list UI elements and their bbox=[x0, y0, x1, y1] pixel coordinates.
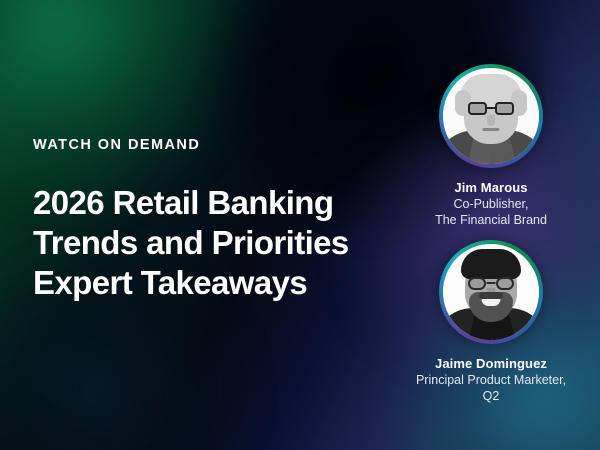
headline-line-2: Trends and Priorities bbox=[33, 223, 393, 263]
speaker-meta: Jaime Dominguez Principal Product Market… bbox=[382, 356, 600, 404]
eyebrow-label: WATCH ON DEMAND bbox=[33, 138, 393, 153]
speaker-role-line-2: Q2 bbox=[382, 388, 600, 404]
webinar-promo-card: WATCH ON DEMAND 2026 Retail Banking Tren… bbox=[0, 0, 600, 450]
speaker-card-jim-marous: Jim Marous Co-Publisher, The Financial B… bbox=[382, 64, 600, 228]
speaker-role-line-1: Co-Publisher, bbox=[382, 196, 600, 212]
speaker-card-jaime-dominguez: Jaime Dominguez Principal Product Market… bbox=[382, 240, 600, 404]
speaker-meta: Jim Marous Co-Publisher, The Financial B… bbox=[382, 180, 600, 228]
avatar bbox=[443, 244, 539, 340]
avatar-ring bbox=[439, 240, 543, 344]
speakers-column: Jim Marous Co-Publisher, The Financial B… bbox=[382, 0, 600, 450]
avatar bbox=[443, 68, 539, 164]
headline-line-1: 2026 Retail Banking bbox=[33, 183, 393, 223]
speaker-name: Jim Marous bbox=[382, 180, 600, 196]
speaker-role-line-2: The Financial Brand bbox=[382, 212, 600, 228]
promo-copy-block: WATCH ON DEMAND 2026 Retail Banking Tren… bbox=[33, 138, 393, 303]
headline-line-3: Expert Takeaways bbox=[33, 263, 393, 303]
page-title: 2026 Retail Banking Trends and Prioritie… bbox=[33, 183, 393, 303]
speaker-role-line-1: Principal Product Marketer, bbox=[382, 372, 600, 388]
avatar-ring bbox=[439, 64, 543, 168]
speaker-name: Jaime Dominguez bbox=[382, 356, 600, 372]
